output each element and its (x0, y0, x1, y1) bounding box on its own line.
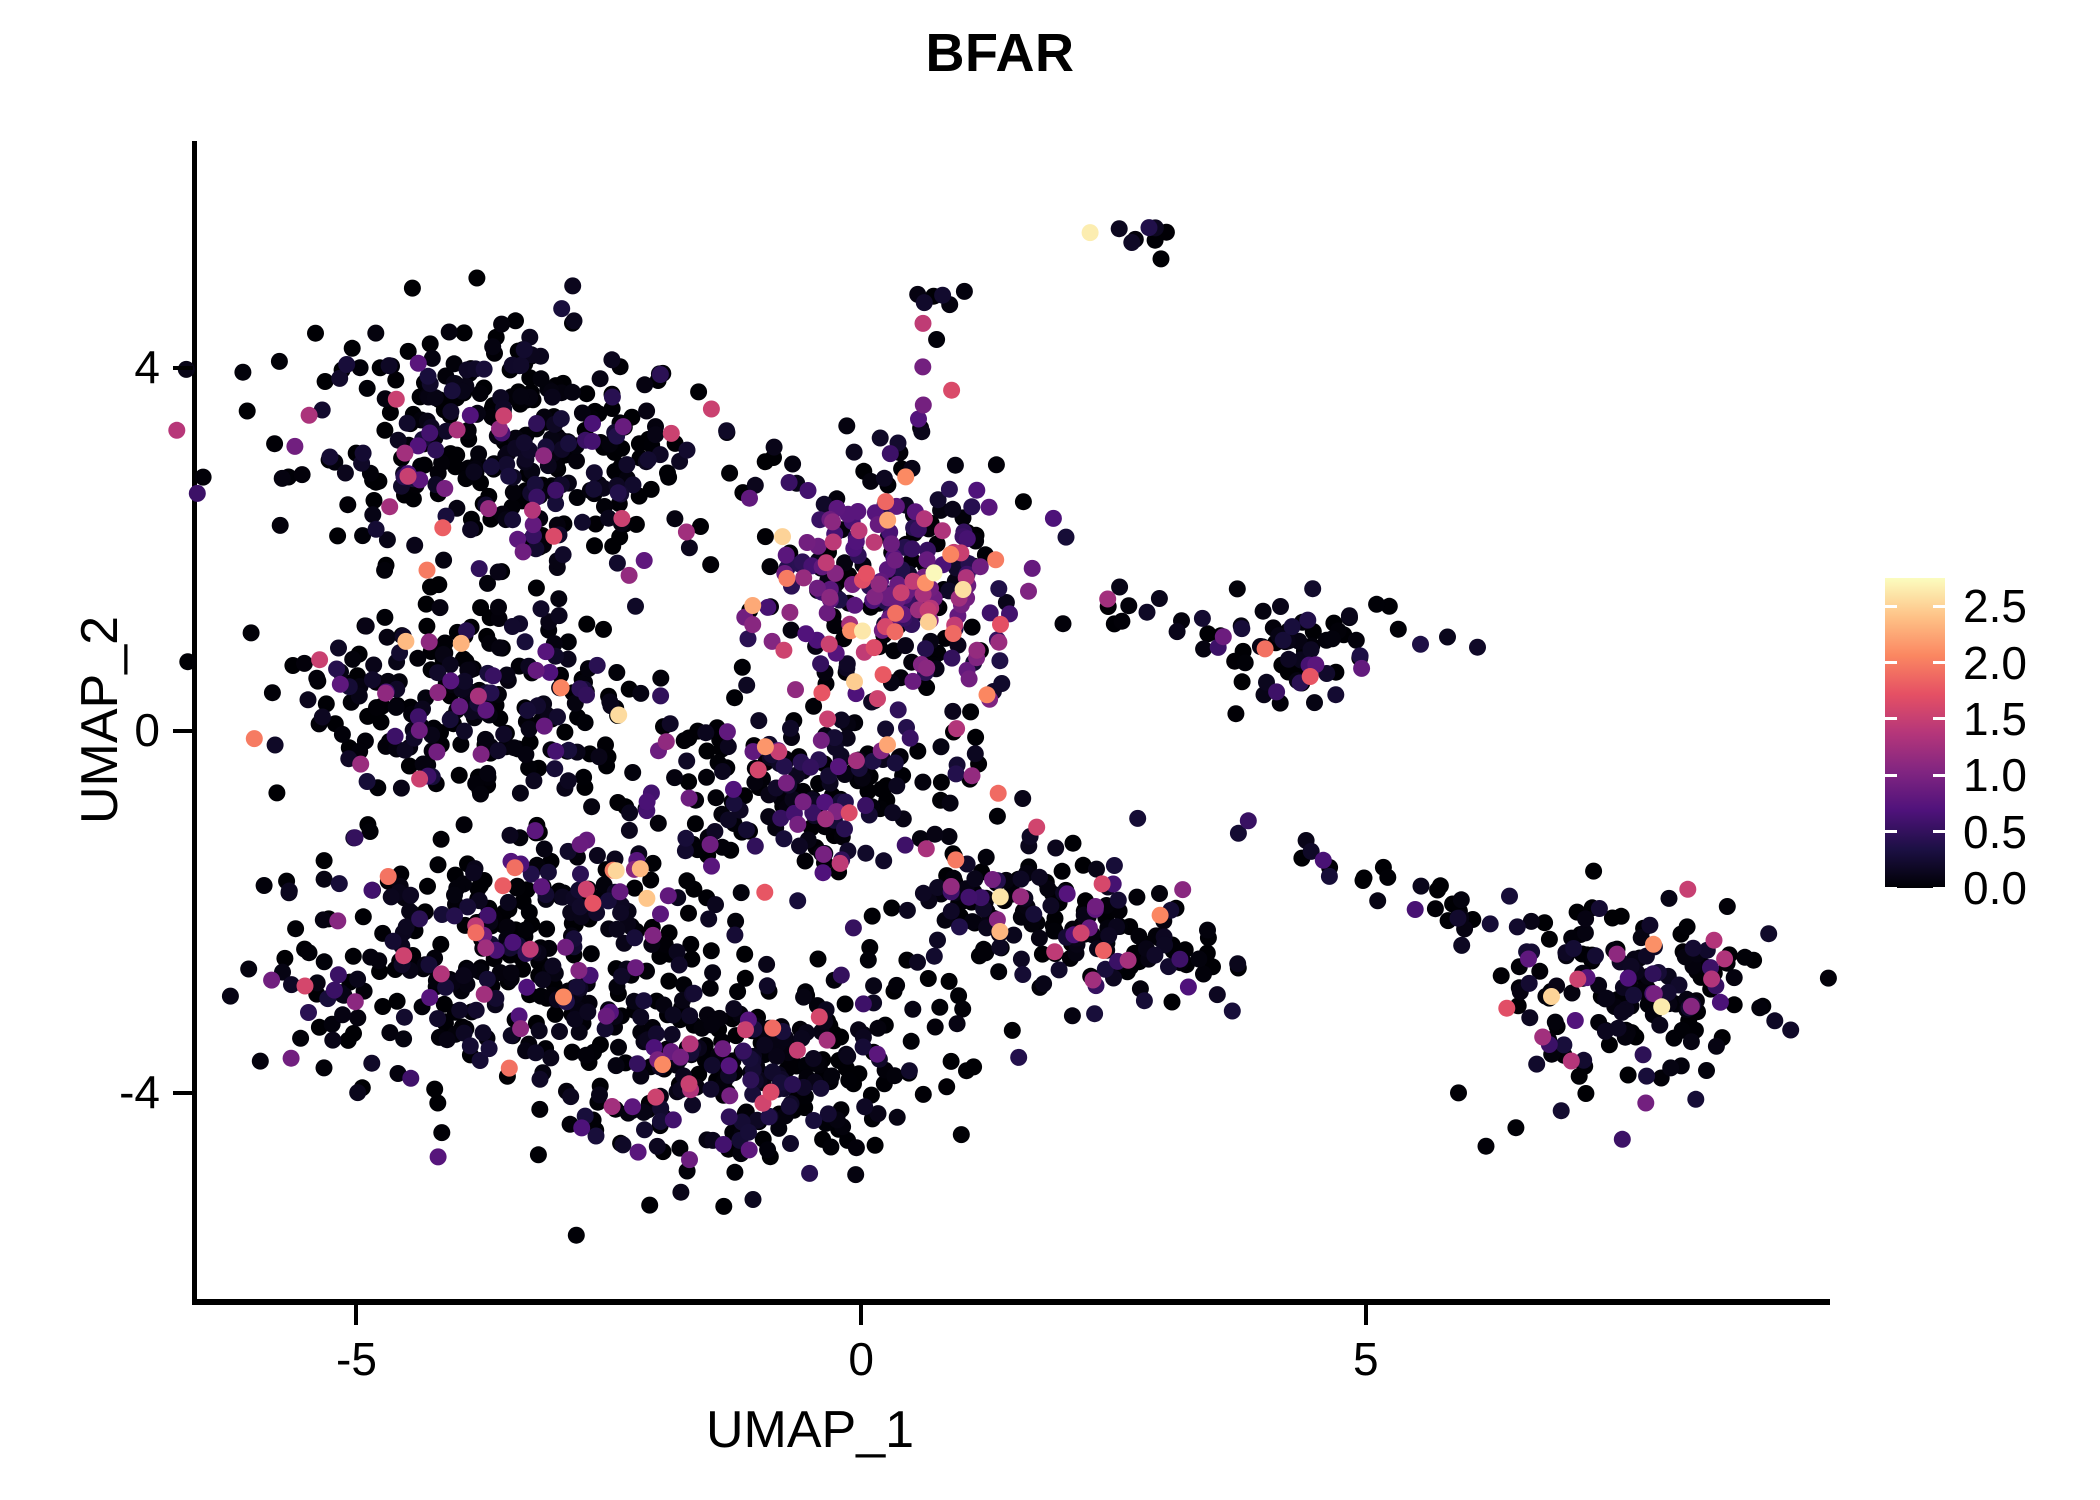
scatter-point (540, 864, 557, 881)
scatter-point (1341, 607, 1358, 624)
scatter-point (1094, 875, 1111, 892)
scatter-point (738, 677, 755, 694)
scatter-point (1306, 694, 1323, 711)
scatter-point (1521, 1009, 1538, 1026)
scatter-point (846, 597, 863, 614)
scatter-point (462, 1037, 479, 1054)
scatter-point (331, 875, 348, 892)
scatter-point (1234, 673, 1251, 690)
scatter-point (362, 949, 379, 966)
scatter-point (795, 793, 812, 810)
scatter-point (918, 840, 935, 857)
scatter-point (527, 1044, 544, 1061)
scatter-point (918, 660, 935, 677)
scatter-point (1501, 888, 1518, 905)
scatter-point (877, 493, 894, 510)
scatter-point (521, 721, 538, 738)
scatter-point (1082, 224, 1099, 241)
scatter-point (819, 604, 836, 621)
scatter-point (1190, 951, 1207, 968)
scatter-point (956, 283, 973, 300)
scatter-point (884, 804, 901, 821)
scatter-point (243, 624, 260, 641)
scatter-point (702, 1081, 719, 1098)
x-tick-label: -5 (256, 1336, 456, 1382)
scatter-point (339, 496, 356, 513)
scatter-point (1683, 998, 1700, 1015)
scatter-point (409, 650, 426, 667)
y-tick-label: 4 (0, 344, 160, 390)
scatter-point (512, 1020, 529, 1037)
scatter-point (899, 902, 916, 919)
scatter-point (666, 769, 683, 786)
scatter-point (726, 689, 743, 706)
scatter-point (436, 480, 453, 497)
scatter-point (805, 1112, 822, 1129)
scatter-point (338, 356, 355, 373)
scatter-point (531, 1101, 548, 1118)
scatter-point (1820, 970, 1837, 987)
scatter-point (672, 1184, 689, 1201)
scatter-point (456, 324, 473, 341)
scatter-point (1113, 613, 1130, 630)
scatter-point (848, 1139, 865, 1156)
scatter-point (1543, 988, 1560, 1005)
scatter-point (1004, 1022, 1021, 1039)
scatter-point (978, 849, 995, 866)
feature-plot-figure: BFAR UMAP_2 UMAP_1 0.00.51.01.52.02.5 -4… (0, 0, 2100, 1500)
scatter-point (704, 1057, 721, 1074)
scatter-point (721, 465, 738, 482)
scatter-point (887, 605, 904, 622)
scatter-point (462, 407, 479, 424)
scatter-point (1469, 639, 1486, 656)
scatter-point (551, 1023, 568, 1040)
scatter-point (888, 977, 905, 994)
scatter-point (475, 1024, 492, 1041)
scatter-point (757, 528, 774, 545)
scatter-point (1390, 621, 1407, 638)
scatter-point (592, 370, 609, 387)
scatter-point (632, 685, 649, 702)
scatter-point (962, 703, 979, 720)
scatter-point (301, 944, 318, 961)
scatter-point (663, 425, 680, 442)
scatter-point (1195, 641, 1212, 658)
scatter-point (954, 1001, 971, 1018)
scatter-point (741, 490, 758, 507)
scatter-point (442, 672, 459, 689)
scatter-point (1577, 1085, 1594, 1102)
scatter-point (612, 904, 629, 921)
scatter-point (448, 447, 465, 464)
colorbar-gradient (1885, 578, 1945, 888)
scatter-point (797, 625, 814, 642)
scatter-point (234, 364, 251, 381)
scatter-point (981, 499, 998, 516)
scatter-point (904, 540, 921, 557)
scatter-point (189, 485, 206, 502)
scatter-point (1051, 961, 1068, 978)
scatter-point (395, 947, 412, 964)
x-axis-title: UMAP_1 (0, 1400, 2100, 1460)
scatter-point (1703, 971, 1720, 988)
colorbar-tick-mark (1933, 605, 1945, 608)
scatter-point (473, 746, 490, 763)
scatter-point (429, 684, 446, 701)
scatter-point (364, 671, 381, 688)
scatter-point (349, 971, 366, 988)
scatter-point (860, 952, 877, 969)
scatter-plot-panel (195, 141, 1830, 1302)
scatter-point (1095, 942, 1112, 959)
scatter-point (381, 498, 398, 515)
scatter-point (797, 853, 814, 870)
scatter-point (1233, 620, 1250, 637)
scatter-point (647, 426, 664, 443)
scatter-point (517, 921, 534, 938)
scatter-point (1610, 1020, 1627, 1037)
scatter-point (964, 767, 981, 784)
colorbar-tick-mark (1885, 830, 1897, 833)
scatter-point (263, 972, 280, 989)
scatter-point (1240, 812, 1257, 829)
scatter-point (1020, 583, 1037, 600)
scatter-point (411, 910, 428, 927)
scatter-point (914, 774, 931, 791)
scatter-point (272, 517, 289, 534)
scatter-point (402, 1070, 419, 1087)
scatter-point (660, 887, 677, 904)
scatter-point (988, 456, 1005, 473)
scatter-point (887, 623, 904, 640)
scatter-point (875, 666, 892, 683)
scatter-point (965, 1058, 982, 1075)
scatter-point (664, 1026, 681, 1043)
scatter-point (964, 619, 981, 636)
scatter-point (422, 335, 439, 352)
scatter-point (810, 951, 827, 968)
scatter-point (506, 859, 523, 876)
scatter-point (553, 300, 570, 317)
scatter-point (643, 481, 660, 498)
scatter-point (591, 1086, 608, 1103)
scatter-point (882, 445, 899, 462)
scatter-point (811, 1008, 828, 1025)
scatter-point (915, 397, 932, 414)
scatter-point (708, 789, 725, 806)
scatter-point (363, 1055, 380, 1072)
scatter-point (1766, 1012, 1783, 1029)
scatter-point (340, 1032, 357, 1049)
scatter-point (1031, 869, 1048, 886)
scatter-point (495, 407, 512, 424)
scatter-point (441, 324, 458, 341)
scatter-point (604, 538, 621, 555)
scatter-point (591, 748, 608, 765)
scatter-point (943, 650, 960, 667)
scatter-point (387, 728, 404, 745)
colorbar-tick-mark (1885, 887, 1897, 890)
x-tick-label: 0 (761, 1336, 961, 1382)
scatter-point (681, 539, 698, 556)
scatter-point (477, 939, 494, 956)
scatter-point (1229, 580, 1246, 597)
scatter-point (545, 528, 562, 545)
scatter-point (557, 939, 574, 956)
scatter-point (615, 418, 632, 435)
scatter-point (491, 639, 508, 656)
y-tick-label: 0 (0, 707, 160, 753)
scatter-point (1195, 966, 1212, 983)
scatter-point (734, 659, 751, 676)
scatter-point (1315, 852, 1332, 869)
scatter-point (721, 1087, 738, 1104)
scatter-point (638, 890, 655, 907)
scatter-point (889, 1109, 906, 1126)
scatter-point (308, 670, 325, 687)
scatter-point (421, 989, 438, 1006)
scatter-point (533, 600, 550, 617)
scatter-point (267, 737, 284, 754)
scatter-point (1432, 877, 1449, 894)
scatter-point (948, 765, 965, 782)
scatter-point (1662, 1059, 1679, 1076)
scatter-point (757, 738, 774, 755)
scatter-point (678, 753, 695, 770)
scatter-point (630, 1144, 647, 1161)
scatter-point (865, 977, 882, 994)
scatter-point (1106, 857, 1123, 874)
scatter-point (283, 1050, 300, 1067)
scatter-point (902, 730, 919, 747)
scatter-point (764, 1020, 781, 1037)
scatter-point (791, 838, 808, 855)
x-tick-mark (354, 1305, 358, 1325)
scatter-point (516, 341, 533, 358)
scatter-point (608, 1057, 625, 1074)
scatter-point (1439, 629, 1456, 646)
scatter-point (433, 1124, 450, 1141)
scatter-point (345, 948, 362, 965)
scatter-point (364, 882, 381, 899)
scatter-point (179, 653, 196, 670)
scatter-point (774, 528, 791, 545)
scatter-point (598, 1008, 615, 1025)
scatter-point (575, 769, 592, 786)
scatter-point (776, 758, 793, 775)
scatter-point (585, 481, 602, 498)
scatter-point (330, 640, 347, 657)
scatter-point (1045, 510, 1062, 527)
scatter-point (535, 447, 552, 464)
scatter-point (1058, 529, 1075, 546)
scatter-point (621, 567, 638, 584)
scatter-point (556, 724, 573, 741)
scatter-point (316, 852, 333, 869)
scatter-point (1507, 1119, 1524, 1136)
scatter-point (1736, 949, 1753, 966)
scatter-point (784, 1076, 801, 1093)
scatter-point (915, 1086, 932, 1103)
scatter-point (721, 1057, 738, 1074)
scatter-point (1706, 932, 1723, 949)
scatter-point (430, 1148, 447, 1165)
scatter-point (629, 1055, 646, 1072)
scatter-point (1638, 1068, 1655, 1085)
scatter-point (652, 670, 669, 687)
scatter-point (525, 772, 542, 789)
scatter-point (815, 864, 832, 881)
scatter-point (928, 331, 945, 348)
scatter-point (365, 657, 382, 674)
scatter-point (610, 707, 627, 724)
scatter-point (396, 445, 413, 462)
scatter-point (926, 948, 943, 965)
scatter-point (528, 415, 545, 432)
scatter-point (512, 785, 529, 802)
scatter-point (481, 1040, 498, 1057)
scatter-point (840, 1072, 857, 1089)
scatter-point (949, 1015, 966, 1032)
scatter-point (317, 373, 334, 390)
scatter-point (435, 552, 452, 569)
scatter-point (926, 564, 943, 581)
scatter-point (1272, 598, 1289, 615)
scatter-point (726, 927, 743, 944)
scatter-point (968, 642, 985, 659)
scatter-point (1635, 1046, 1652, 1063)
scatter-point (504, 934, 521, 951)
scatter-point (638, 403, 655, 420)
scatter-point (316, 953, 333, 970)
scatter-point (1712, 994, 1729, 1011)
scatter-point (781, 604, 798, 621)
scatter-point (967, 745, 984, 762)
scatter-point (355, 445, 372, 462)
scatter-point (636, 552, 653, 569)
scatter-point (684, 1096, 701, 1113)
scatter-point (690, 383, 707, 400)
scatter-point (562, 1088, 579, 1105)
scatter-point (1625, 987, 1642, 1004)
scatter-point (888, 777, 905, 794)
y-tick-mark (173, 1091, 193, 1095)
scatter-point (362, 823, 379, 840)
scatter-point (662, 715, 679, 732)
scatter-point (1641, 917, 1658, 934)
scatter-point (849, 503, 866, 520)
scatter-point (778, 775, 795, 792)
scatter-point (745, 1191, 762, 1208)
scatter-point (1587, 947, 1604, 964)
scatter-point (1726, 969, 1743, 986)
scatter-point (468, 270, 485, 287)
scatter-point (568, 452, 585, 469)
scatter-point (665, 1111, 682, 1128)
scatter-point (551, 607, 568, 624)
scatter-point (422, 579, 439, 596)
scatter-point (610, 484, 627, 501)
scatter-point (1698, 1062, 1715, 1079)
scatter-point (904, 1001, 921, 1018)
scatter-point (550, 590, 567, 607)
scatter-point (376, 562, 393, 579)
scatter-point (1645, 936, 1662, 953)
scatter-point (168, 422, 185, 439)
scatter-point (374, 998, 391, 1015)
scatter-point (738, 821, 755, 838)
scatter-point (433, 831, 450, 848)
scatter-point (1229, 955, 1246, 972)
scatter-point (987, 551, 1004, 568)
scatter-point (316, 1059, 333, 1076)
scatter-point (916, 510, 933, 527)
scatter-point (951, 918, 968, 935)
scatter-point (1047, 840, 1064, 857)
scatter-point (301, 407, 318, 424)
scatter-point (388, 391, 405, 408)
scatter-point (411, 771, 428, 788)
scatter-point (789, 892, 806, 909)
scatter-point (992, 616, 1009, 633)
scatter-point (326, 982, 343, 999)
scatter-point (640, 451, 657, 468)
scatter-point (1614, 1131, 1631, 1148)
scatter-point (494, 877, 511, 894)
scatter-point (568, 1227, 585, 1244)
scatter-point (782, 720, 799, 737)
colorbar-tick-label: 2.0 (1963, 640, 2027, 686)
scatter-point (795, 989, 812, 1006)
colorbar-tick-mark (1933, 717, 1945, 720)
scatter-point (702, 980, 719, 997)
scatter-point (931, 999, 948, 1016)
scatter-point (1010, 1049, 1027, 1066)
scatter-point (613, 968, 630, 985)
scatter-point (833, 967, 850, 984)
scatter-point (1031, 930, 1048, 947)
scatter-point (775, 830, 792, 847)
scatter-point (381, 357, 398, 374)
scatter-point (527, 822, 544, 839)
scatter-point (1012, 888, 1029, 905)
scatter-point (876, 470, 893, 487)
scatter-point (547, 743, 564, 760)
scatter-point (536, 718, 553, 735)
scatter-point (1059, 885, 1076, 902)
scatter-point (364, 506, 381, 523)
scatter-point (296, 655, 313, 672)
scatter-point (544, 389, 561, 406)
scatter-point (1136, 992, 1153, 1009)
scatter-point (358, 618, 375, 635)
scatter-point (893, 584, 910, 601)
scatter-point (560, 435, 577, 452)
scatter-point (1571, 1068, 1588, 1085)
scatter-point (533, 878, 550, 895)
scatter-point (479, 765, 496, 782)
scatter-point (393, 780, 410, 797)
scatter-point (383, 888, 400, 905)
scatter-point (522, 941, 539, 958)
scatter-point (733, 884, 750, 901)
scatter-point (410, 355, 427, 372)
scatter-point (427, 442, 444, 459)
scatter-point (1609, 946, 1626, 963)
scatter-point (671, 957, 688, 974)
scatter-point (740, 1124, 757, 1141)
